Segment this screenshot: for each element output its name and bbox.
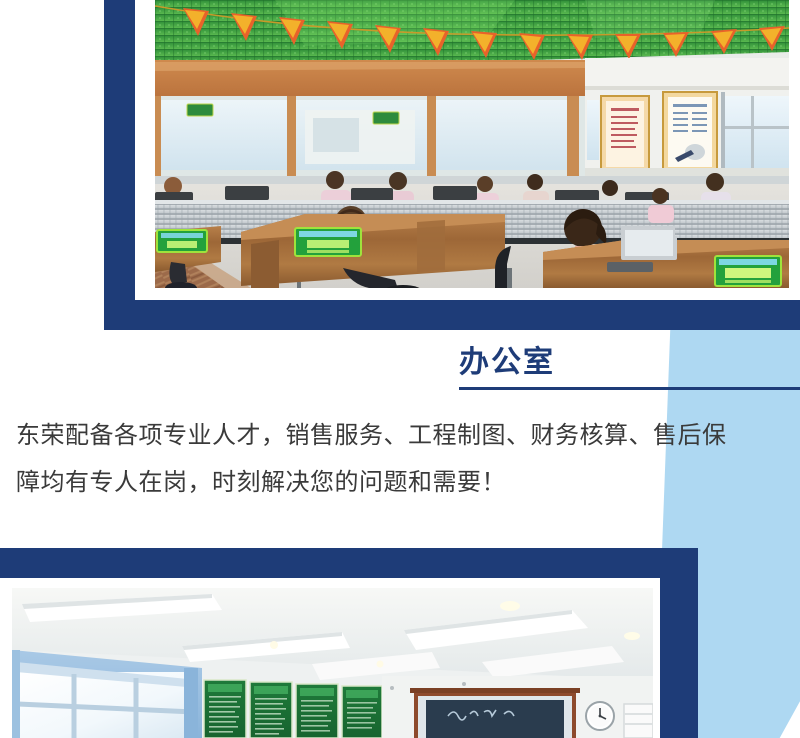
office-interior-photo (12, 588, 653, 738)
description-block: 东荣配备各项专业人才，销售服务、工程制图、财务核算、售后保 障均有专人在岗，时刻… (16, 412, 788, 506)
title-underline-rule (459, 387, 800, 390)
office-hall-photo (155, 0, 789, 288)
description-line-1: 东荣配备各项专业人才，销售服务、工程制图、财务核算、售后保 (16, 412, 788, 459)
description-line-2: 障均有专人在岗，时刻解决您的问题和需要！ (16, 459, 788, 506)
page-title: 办公室 (459, 340, 555, 386)
promo-page: 办公室 东荣配备各项专业人才，销售服务、工程制图、财务核算、售后保 障均有专人在… (0, 0, 800, 738)
